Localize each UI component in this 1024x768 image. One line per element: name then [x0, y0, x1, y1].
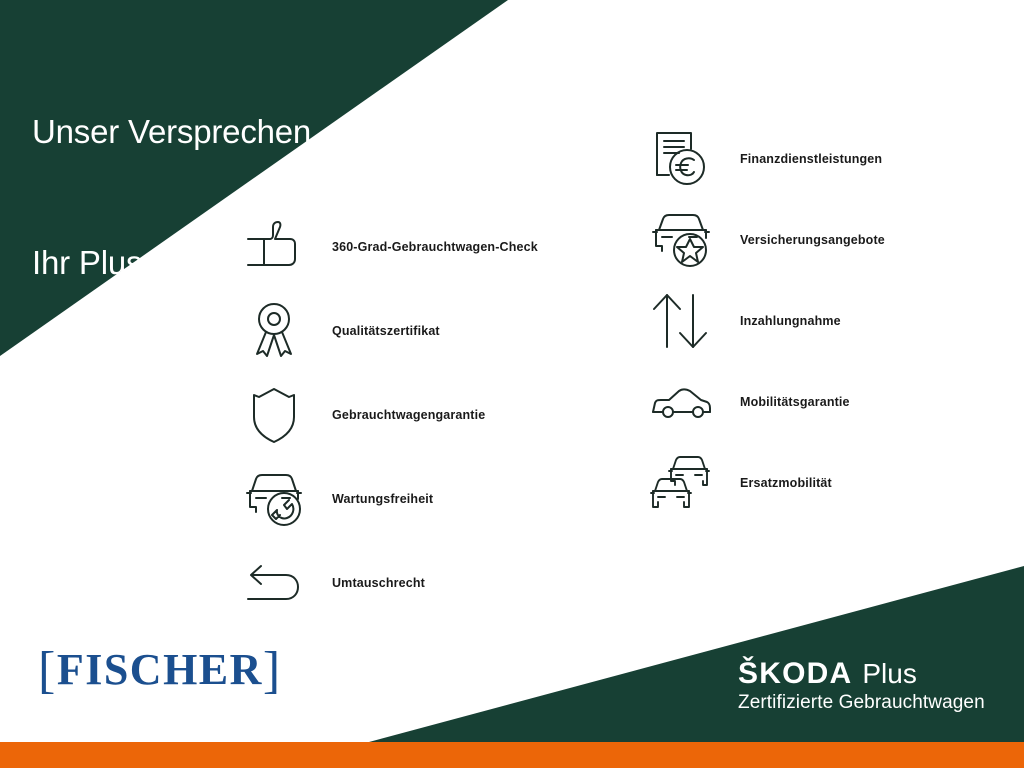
car-side-icon [648, 369, 714, 435]
feature-label: Qualitätszertifikat [332, 324, 440, 338]
up-down-arrows-icon [648, 288, 714, 354]
feature-item: 360-Grad-Gebrauchtwagen-Check [238, 205, 638, 289]
feature-label: Umtauschrecht [332, 576, 425, 590]
car-front-wrench-icon [238, 463, 310, 535]
feature-item: Mobilitätsgarantie [648, 361, 1024, 442]
feature-label: Gebrauchtwagengarantie [332, 408, 485, 422]
feature-item: Inzahlungnahme [648, 280, 1024, 361]
logo-bracket-close: ] [263, 642, 282, 699]
feature-list-left: 360-Grad-Gebrauchtwagen-Check Qualitätsz… [238, 205, 638, 625]
feature-label: 360-Grad-Gebrauchtwagen-Check [332, 240, 538, 254]
feature-item: Finanzdienstleistungen [648, 118, 1024, 199]
document-euro-icon [648, 126, 714, 192]
return-arrow-icon [238, 547, 310, 619]
feature-label: Versicherungsangebote [740, 233, 885, 247]
feature-label: Inzahlungnahme [740, 314, 841, 328]
feature-label: Ersatzmobilität [740, 476, 832, 490]
feature-item: Gebrauchtwagengarantie [238, 373, 638, 457]
feature-label: Finanzdienstleistungen [740, 152, 882, 166]
feature-item: Wartungsfreiheit [238, 457, 638, 541]
feature-label: Mobilitätsgarantie [740, 395, 850, 409]
dealer-logo[interactable]: [FISCHER] [38, 641, 282, 700]
feature-item: Umtauschrecht [238, 541, 638, 625]
skoda-tagline: Zertifizierte Gebrauchtwagen [738, 691, 985, 715]
feature-label: Wartungsfreiheit [332, 492, 433, 506]
car-front-star-icon [648, 207, 714, 273]
two-cars-icon [648, 450, 714, 516]
promo-slide: Unser Versprechen. Ihr Plus. 360-Grad-Ge… [0, 0, 1024, 768]
skoda-wordmark-row: ŠKODAPlus [738, 658, 985, 690]
feature-item: Qualitätszertifikat [238, 289, 638, 373]
medal-rosette-icon [238, 295, 310, 367]
headline-line-1: Unser Versprechen. [32, 110, 320, 154]
logo-bracket-open: [ [38, 642, 57, 699]
feature-item: Ersatzmobilität [648, 442, 1024, 523]
shield-icon [238, 379, 310, 451]
thumbs-up-icon [238, 211, 310, 283]
feature-list-right: Finanzdienstleistungen Versicherungsange… [648, 118, 1024, 523]
feature-item: Versicherungsangebote [648, 199, 1024, 280]
orange-footer-bar [0, 742, 1024, 768]
skoda-plus-logo: ŠKODAPlus Zertifizierte Gebrauchtwagen [738, 658, 985, 714]
skoda-wordmark: ŠKODA [738, 657, 852, 690]
logo-wordmark: FISCHER [57, 645, 263, 694]
skoda-plus-label: Plus [862, 658, 916, 689]
